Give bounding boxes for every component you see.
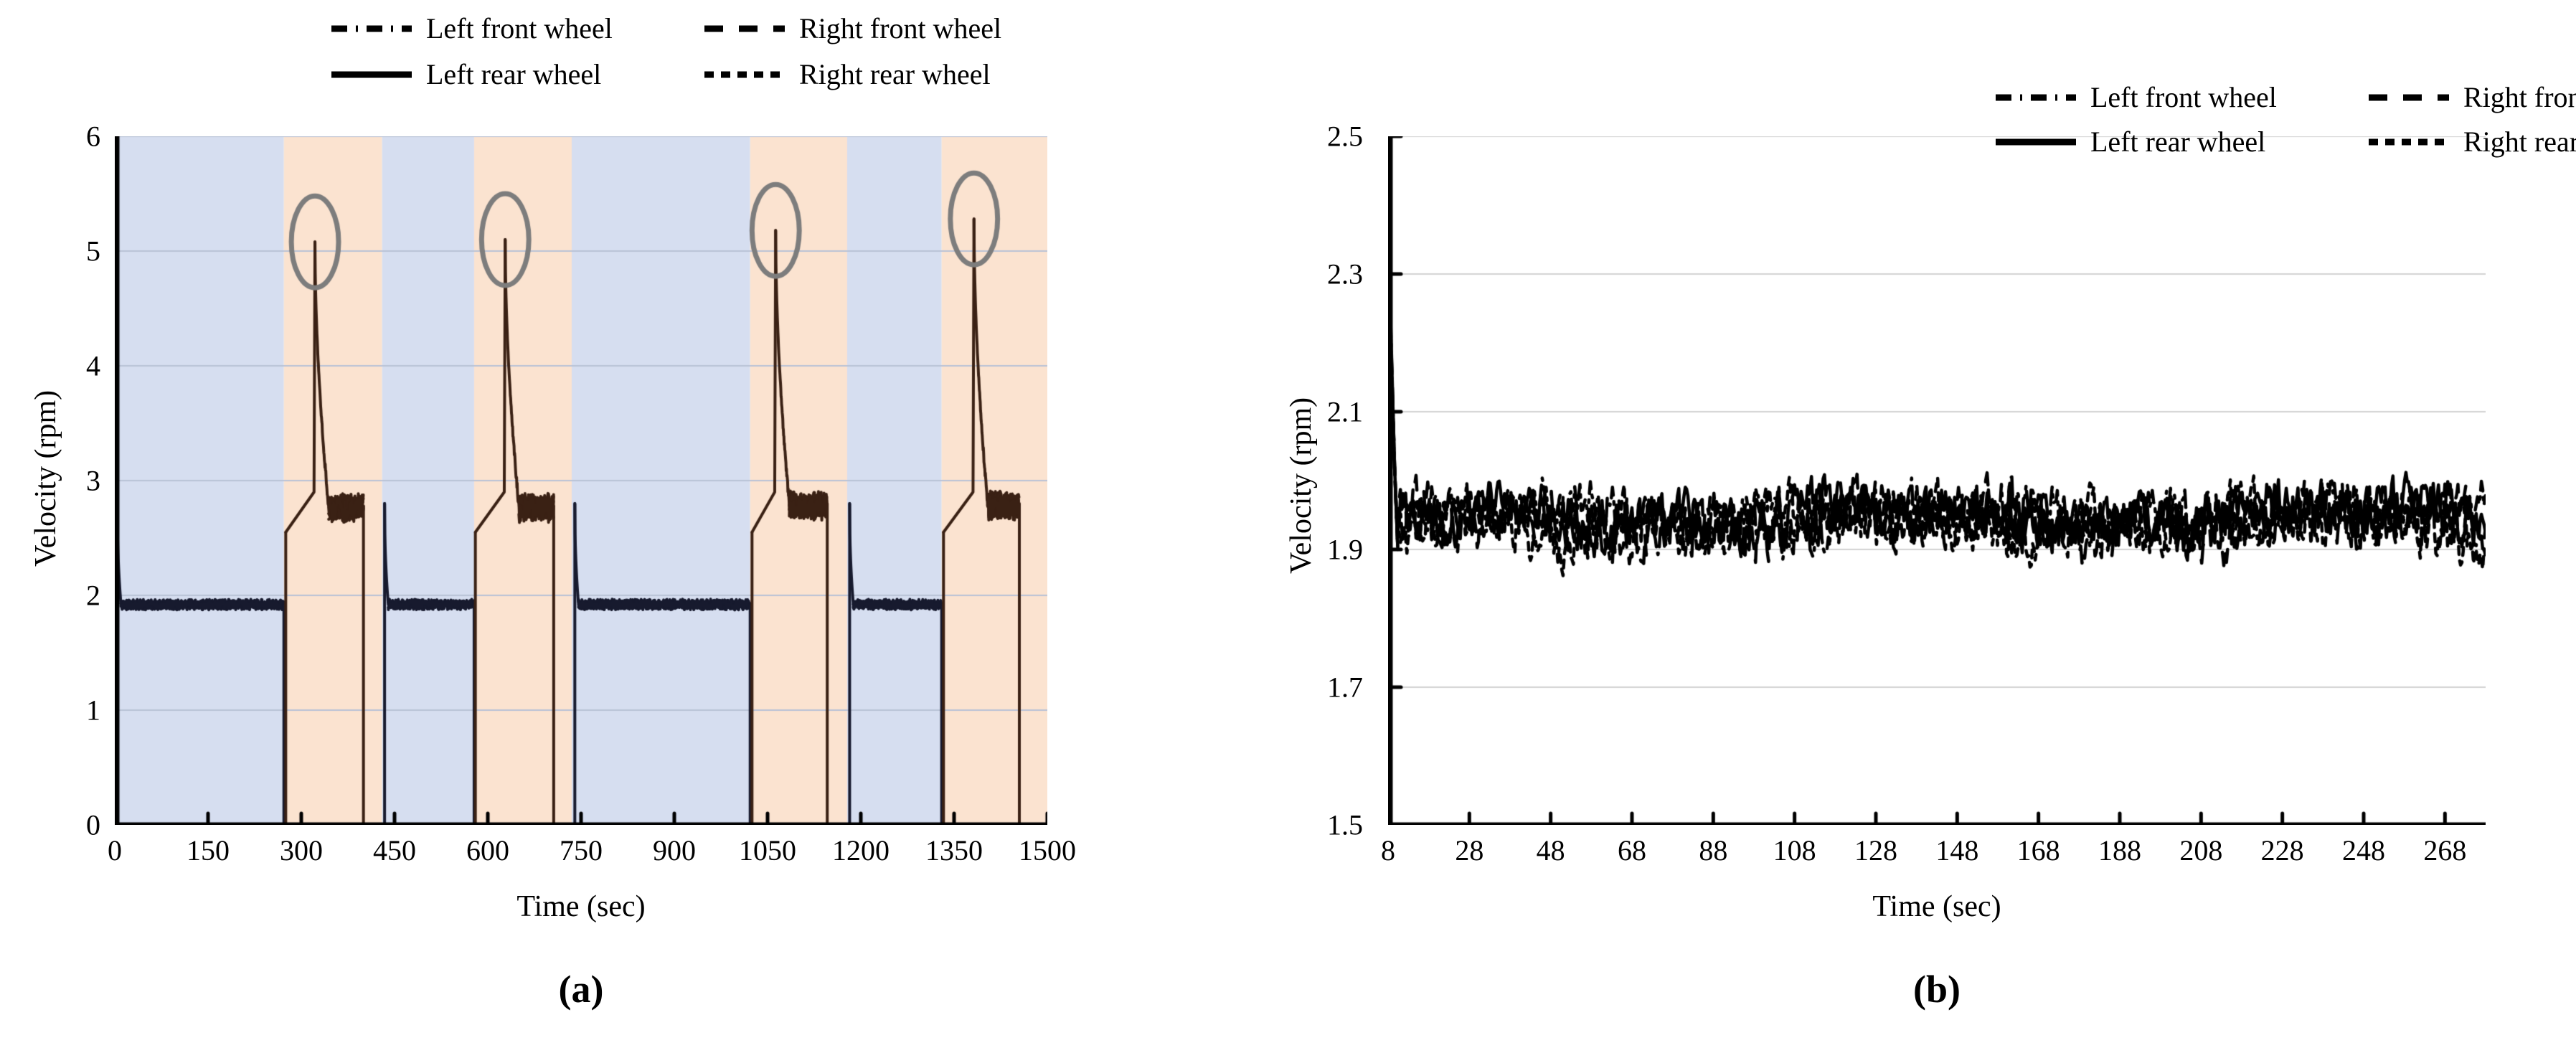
legend-item-right-rear-wheel: Right rear wheel: [703, 60, 1105, 89]
legend-item-left-front-wheel: Left front wheel: [1994, 83, 2367, 112]
y-tick-label: 1.9: [1327, 533, 1363, 567]
y-tick-label: 2: [86, 579, 100, 613]
x-tick-label: 450: [373, 834, 416, 867]
legend-item-left-front-wheel: Left front wheel: [330, 14, 703, 43]
y-tick-label: 2.5: [1327, 120, 1363, 154]
legend-label: Left rear wheel: [2090, 128, 2265, 156]
legend-label: Right front wheel: [799, 14, 1001, 43]
x-tick-labels-a: 01503004506007509001050120013501500: [0, 834, 1219, 877]
solid-line-icon: [1994, 135, 2077, 149]
legend-label: Left front wheel: [2090, 83, 2277, 112]
x-tick-label: 28: [1455, 834, 1483, 867]
chart-plot-a: [115, 136, 1047, 825]
y-tick-label: 1.7: [1327, 671, 1363, 704]
dash-dot-line-icon: [1994, 90, 2077, 105]
y-tick-label: 2.1: [1327, 395, 1363, 429]
x-tick-label: 68: [1618, 834, 1646, 867]
x-tick-label: 188: [2098, 834, 2141, 867]
panel-b: Velocity (rpm) 1.51.71.92.12.32.5 Left f…: [1219, 0, 2576, 1053]
x-tick-label: 600: [466, 834, 509, 867]
legend-item-right-front-wheel: Right front wheel: [2367, 83, 2576, 112]
x-tick-label: 268: [2423, 834, 2466, 867]
y-tick-label: 4: [86, 349, 100, 383]
dotted-line-icon: [703, 67, 786, 82]
x-tick-label: 1050: [739, 834, 796, 867]
y-tick-labels-b: 1.51.71.92.12.32.5: [1255, 0, 1363, 1053]
x-tick-label: 108: [1773, 834, 1816, 867]
panel-caption-a: (a): [115, 967, 1047, 1011]
legend-label: Right rear wheel: [2463, 128, 2576, 156]
x-tick-label: 1350: [925, 834, 983, 867]
legend-item-right-rear-wheel: Right rear wheel: [2367, 128, 2576, 156]
y-tick-label: 6: [86, 120, 100, 154]
legend-label: Left rear wheel: [426, 60, 601, 89]
x-tick-label: 0: [108, 834, 122, 867]
y-tick-label: 5: [86, 235, 100, 268]
dash-dot-line-icon: [330, 22, 413, 36]
x-tick-label: 8: [1381, 834, 1395, 867]
x-tick-label: 128: [1854, 834, 1897, 867]
y-tick-label: 3: [86, 464, 100, 498]
panel-a: Left front wheel Right front wheel Left …: [0, 0, 1219, 1053]
legend-item-left-rear-wheel: Left rear wheel: [330, 60, 703, 89]
y-tick-label: 1: [86, 694, 100, 727]
figure-root: Left front wheel Right front wheel Left …: [0, 0, 2576, 1053]
dotted-line-icon: [2367, 135, 2450, 149]
x-tick-label: 900: [653, 834, 696, 867]
legend-item-right-front-wheel: Right front wheel: [703, 14, 1105, 43]
x-tick-label: 88: [1699, 834, 1727, 867]
x-tick-label: 248: [2342, 834, 2385, 867]
x-tick-label: 228: [2261, 834, 2304, 867]
legend-label: Right front wheel: [2463, 83, 2576, 112]
dashed-line-icon: [2367, 90, 2450, 105]
x-tick-label: 148: [1935, 834, 1978, 867]
legend-label: Left front wheel: [426, 14, 613, 43]
x-tick-label: 208: [2179, 834, 2222, 867]
chart-plot-b: [1388, 136, 2486, 825]
x-tick-label: 1500: [1019, 834, 1076, 867]
legend-item-left-rear-wheel: Left rear wheel: [1994, 128, 2367, 156]
x-tick-labels-b: 828486888108128148168188208228248268: [1219, 834, 2576, 877]
legend-label: Right rear wheel: [799, 60, 991, 89]
x-tick-label: 48: [1537, 834, 1565, 867]
panel-caption-b: (b): [1388, 967, 2486, 1011]
x-tick-label: 300: [280, 834, 323, 867]
x-tick-label: 150: [187, 834, 230, 867]
dashed-line-icon: [703, 22, 786, 36]
x-tick-label: 168: [2017, 834, 2060, 867]
solid-line-icon: [330, 67, 413, 82]
y-tick-label: 2.3: [1327, 258, 1363, 291]
legend-panel-b: Left front wheel Right front wheel Left …: [1994, 75, 2576, 176]
x-tick-label: 750: [560, 834, 603, 867]
legend-panel-a: Left front wheel Right front wheel Left …: [330, 6, 1105, 113]
y-tick-labels-a: 0123456: [14, 0, 100, 1053]
x-tick-label: 1200: [832, 834, 890, 867]
x-axis-title-b: Time (sec): [1388, 889, 2486, 924]
x-axis-title-a: Time (sec): [115, 889, 1047, 924]
